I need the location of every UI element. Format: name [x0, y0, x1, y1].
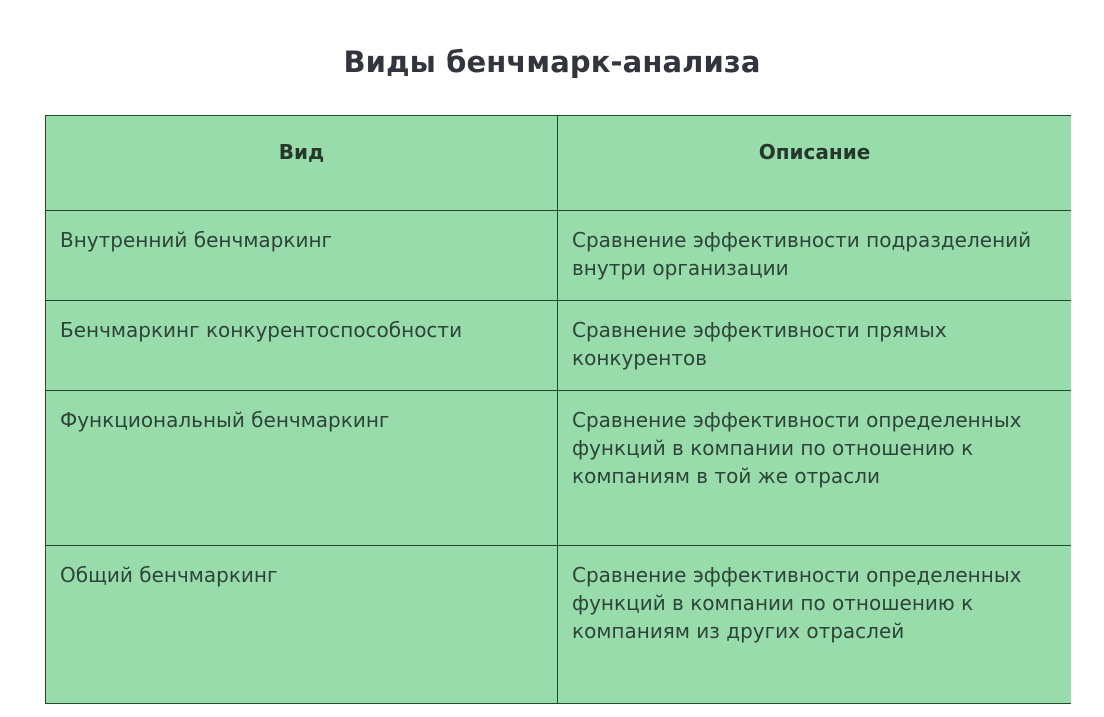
page-title: Виды бенчмарк-анализа [0, 44, 1104, 80]
cell-type: Общий бенчмаркинг [46, 546, 558, 704]
cell-type-text: Функциональный бенчмаркинг [60, 406, 541, 434]
cell-description: Сравнение эффективности определенных фун… [558, 391, 1072, 546]
benchmark-types-table-container: Вид Описание Внутренний бенчмаркинг Срав… [45, 115, 1071, 704]
table-body: Внутренний бенчмаркинг Сравнение эффекти… [46, 211, 1072, 704]
table-header: Вид Описание [46, 116, 1072, 211]
cell-type: Бенчмаркинг конкурентоспособности [46, 301, 558, 391]
benchmark-types-table: Вид Описание Внутренний бенчмаркинг Срав… [45, 115, 1071, 704]
table-row: Общий бенчмаркинг Сравнение эффективност… [46, 546, 1072, 704]
table-header-row: Вид Описание [46, 116, 1072, 211]
cell-type: Функциональный бенчмаркинг [46, 391, 558, 546]
slide-canvas: Виды бенчмарк-анализа Вид Описание Внутр… [0, 0, 1104, 717]
cell-description: Сравнение эффективности определенных фун… [558, 546, 1072, 704]
cell-type-text: Общий бенчмаркинг [60, 561, 541, 589]
table-row: Внутренний бенчмаркинг Сравнение эффекти… [46, 211, 1072, 301]
cell-type-text: Внутренний бенчмаркинг [60, 226, 541, 254]
cell-type-text: Бенчмаркинг конкурентоспособности [60, 316, 541, 344]
cell-description-text: Сравнение эффективности определенных фун… [572, 406, 1055, 490]
column-header-type: Вид [46, 116, 558, 211]
table-row: Функциональный бенчмаркинг Сравнение эфф… [46, 391, 1072, 546]
cell-description-text: Сравнение эффективности подразделений вн… [572, 226, 1055, 282]
table-row: Бенчмаркинг конкурентоспособности Сравне… [46, 301, 1072, 391]
cell-type: Внутренний бенчмаркинг [46, 211, 558, 301]
cell-description: Сравнение эффективности подразделений вн… [558, 211, 1072, 301]
column-header-description: Описание [558, 116, 1072, 211]
cell-description: Сравнение эффективности прямых конкурент… [558, 301, 1072, 391]
cell-description-text: Сравнение эффективности определенных фун… [572, 561, 1055, 645]
cell-description-text: Сравнение эффективности прямых конкурент… [572, 316, 1055, 372]
